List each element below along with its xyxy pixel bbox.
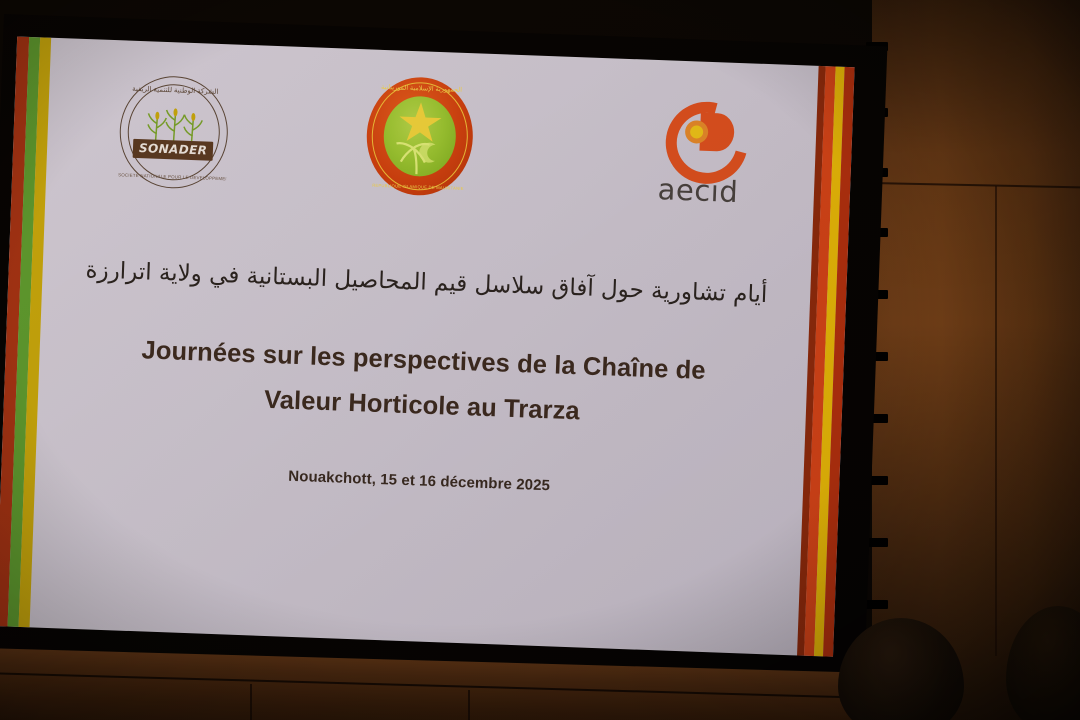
presentation-slide: الشركة الوطنية للتنمية الريفية [0, 36, 855, 656]
aecid-mark-icon [665, 100, 735, 168]
slide-content: الشركة الوطنية للتنمية الريفية [30, 38, 819, 656]
slide-title-french: Journées sur les perspectives de la Chaî… [139, 328, 706, 439]
slide-date-line: Nouakchott, 15 et 16 décembre 2025 [288, 468, 550, 495]
sonader-wordmark: SONADER [133, 139, 214, 161]
wall-seam-vertical [250, 684, 252, 720]
slide-text-block: أيام تشاورية حول آفاق سلاسل قيم المحاصيل… [30, 198, 813, 656]
slide-title-french-line2: Valeur Horticole au Trarza [139, 373, 705, 439]
projection-screen: الشركة الوطنية للتنمية الريفية [0, 14, 887, 686]
star-icon [399, 102, 442, 143]
mauritania-national-emblem: الجمهورية الإسلامية الموريتانية REPUBLIQ… [365, 75, 475, 197]
aecid-logo: aecid [637, 99, 761, 215]
wall-seam-vertical [468, 690, 470, 720]
wall-seam-vertical [995, 186, 997, 656]
conference-room-scene: الشركة الوطنية للتنمية الريفية [0, 0, 1080, 720]
screen-bracket-icon [866, 600, 888, 609]
slide-title-arabic: أيام تشاورية حول آفاق سلاسل قيم المحاصيل… [85, 253, 768, 312]
sonader-logo: الشركة الوطنية للتنمية الريفية [118, 74, 230, 190]
slide-logo-row: الشركة الوطنية للتنمية الريفية [45, 38, 818, 226]
